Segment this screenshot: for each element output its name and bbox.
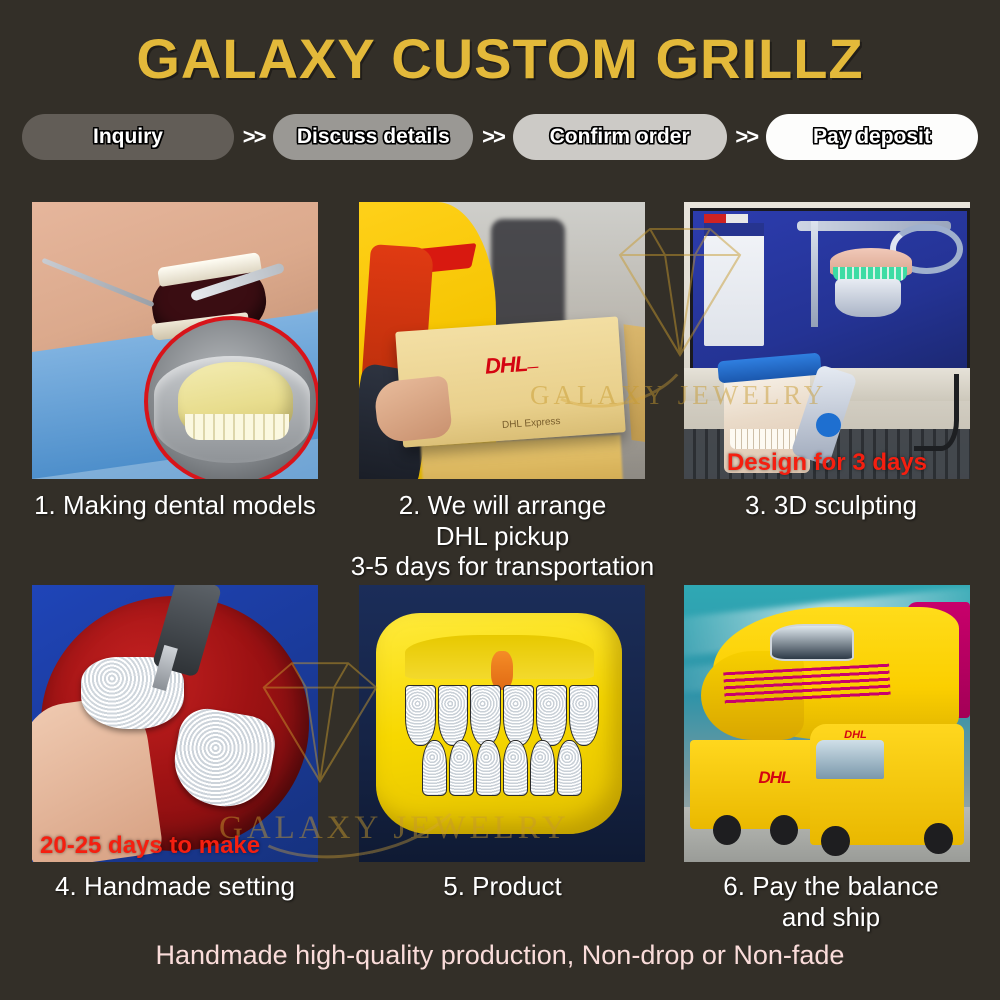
caption-4: 4. Handmade setting (10, 871, 340, 902)
caption-3: 3. 3D sculpting (666, 490, 996, 521)
photo-dental-patient (32, 202, 318, 479)
step-label: Confirm order (550, 125, 690, 149)
caption-2: 2. We will arrangeDHL pickup3-5 days for… (335, 490, 670, 582)
process-image-4-handmade-setting: 20-25 days to make (32, 585, 318, 862)
photo-dhl-plane-trucks: DHL DHL (684, 585, 970, 862)
footer-tagline: Handmade high-quality production, Non-dr… (0, 940, 1000, 971)
step-badge-pay-deposit[interactable]: Pay deposit (766, 114, 978, 160)
dhl-van-logo-icon: DHL (844, 729, 867, 741)
step-label: Pay deposit (813, 125, 931, 149)
step-badge-inquiry[interactable]: Inquiry (22, 114, 234, 160)
caption-6: 6. Pay the balanceand ship (666, 871, 996, 932)
photo-dhl-courier: DHL— 4 DHL Express (359, 202, 645, 479)
dhl-truck-logo-icon: DHL (758, 768, 790, 788)
process-step-bar: Inquiry >> Discuss details >> Confirm or… (22, 113, 978, 161)
step-arrow-icon-1: >> (237, 124, 271, 150)
dental-model-inset-circle (144, 316, 318, 479)
process-image-6-pay-balance-ship: DHL DHL (684, 585, 970, 862)
caption-5: 5. Product (335, 871, 670, 902)
dhl-logo-icon: DHL— (484, 350, 538, 380)
photo-handmade-setting (32, 585, 318, 862)
step-label: Inquiry (93, 125, 163, 149)
step-label: Discuss details (297, 125, 450, 149)
poster-canvas: GALAXY CUSTOM GRILLZ Inquiry >> Discuss … (0, 0, 1000, 1000)
process-image-2-dhl-pickup: DHL— 4 DHL Express (359, 202, 645, 479)
process-image-3-3d-sculpting: Design for 3 days (684, 202, 970, 479)
photo-product-grillz (359, 585, 645, 862)
step-badge-confirm-order[interactable]: Confirm order (513, 114, 727, 160)
page-title: GALAXY CUSTOM GRILLZ (0, 26, 1000, 91)
tile-overlay-text-4: 20-25 days to make (32, 832, 318, 860)
tile-overlay-text-3: Design for 3 days (684, 449, 970, 477)
process-image-5-product (359, 585, 645, 862)
photo-3d-sculpting (684, 202, 970, 479)
step-badge-discuss-details[interactable]: Discuss details (273, 114, 473, 160)
step-arrow-icon-2: >> (476, 124, 510, 150)
caption-1: 1. Making dental models (10, 490, 340, 521)
step-arrow-icon-3: >> (729, 124, 763, 150)
process-image-1-dental-models (32, 202, 318, 479)
